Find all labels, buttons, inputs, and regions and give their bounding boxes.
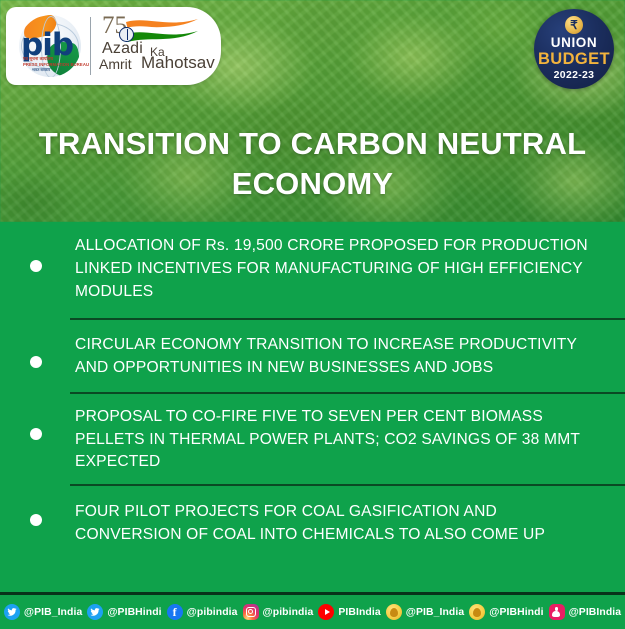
list-item: PROPOSAL TO CO-FIRE FIVE TO SEVEN PER CE…	[0, 394, 625, 475]
bullet-dot-icon	[30, 356, 42, 368]
list-item-text: ALLOCATION OF Rs. 19,500 CRORE PROPOSED …	[75, 235, 603, 304]
instagram-icon	[243, 604, 259, 620]
bullet-dot-icon	[30, 260, 42, 272]
twitter-icon	[87, 604, 103, 620]
pib-budget-poster: pib पत्र सूचना कार्यालय PRESS INFORMATIO…	[0, 0, 625, 629]
budget-badge-union: UNION	[551, 36, 598, 50]
social-handle: @PIB_India	[24, 607, 82, 618]
social-handle: @PIBHindi	[489, 607, 543, 618]
social-link-facebook[interactable]: f @pibindia	[167, 604, 238, 620]
ashoka-chakra-icon	[119, 27, 134, 42]
bullet-list-panel: ALLOCATION OF Rs. 19,500 CRORE PROPOSED …	[0, 222, 625, 594]
spacer	[0, 474, 625, 484]
list-item-text: CIRCULAR ECONOMY TRANSITION TO INCREASE …	[75, 334, 603, 380]
twitter-icon	[4, 604, 20, 620]
page-title: TRANSITION TO CARBON NEUTRAL ECONOMY	[0, 124, 625, 203]
youtube-icon	[318, 604, 334, 620]
logo-card: pib पत्र सूचना कार्यालय PRESS INFORMATIO…	[6, 7, 221, 85]
social-handle: @PIB_India	[406, 607, 464, 618]
social-handle: @pibindia	[187, 607, 238, 618]
budget-badge-budget: BUDGET	[538, 51, 610, 68]
sharechat-icon	[549, 604, 565, 620]
bullet-dot-icon	[30, 428, 42, 440]
social-handle: @PIBIndia	[569, 607, 622, 618]
logo-divider	[90, 17, 91, 75]
azadi-ka-amrit-mahotsav-logo: 75 Azadi Ka Amrit Mahotsav	[98, 11, 218, 81]
list-item: FOUR PILOT PROJECTS FOR COAL GASIFICATIO…	[0, 486, 625, 547]
spacer	[0, 380, 625, 392]
list-item-text: FOUR PILOT PROJECTS FOR COAL GASIFICATIO…	[75, 501, 603, 547]
pib-gov-line: भारत सरकार	[32, 68, 50, 73]
social-link-koo-pib-hindi[interactable]: @PIBHindi	[469, 604, 543, 620]
rupee-coin-icon: ₹	[565, 16, 583, 34]
facebook-icon: f	[167, 604, 183, 620]
social-link-youtube[interactable]: PIBIndia	[318, 604, 380, 620]
union-budget-badge: ₹ UNION BUDGET 2022-23	[534, 9, 614, 89]
social-link-twitter-pib-hindi[interactable]: @PIBHindi	[87, 604, 161, 620]
social-footer-bar: @PIB_India @PIBHindi f @pibindia @pibind…	[0, 595, 625, 629]
spacer	[0, 304, 625, 318]
koo-icon	[469, 604, 485, 620]
pib-logo: pib पत्र सूचना कार्यालय PRESS INFORMATIO…	[12, 12, 88, 80]
pib-english-line: PRESS INFORMATION BUREAU	[23, 62, 89, 67]
list-item: CIRCULAR ECONOMY TRANSITION TO INCREASE …	[0, 320, 625, 380]
budget-badge-year: 2022-23	[554, 69, 595, 82]
social-handle: @PIBHindi	[107, 607, 161, 618]
koo-icon	[386, 604, 402, 620]
list-item-text: PROPOSAL TO CO-FIRE FIVE TO SEVEN PER CE…	[75, 406, 603, 475]
bullet-dot-icon	[30, 514, 42, 526]
social-link-twitter-pib-india[interactable]: @PIB_India	[4, 604, 82, 620]
social-link-koo-pib-india[interactable]: @PIB_India	[386, 604, 464, 620]
social-handle: @pibindia	[263, 607, 314, 618]
amrit-word: Amrit	[99, 56, 132, 72]
mahotsav-word: Mahotsav	[141, 53, 215, 73]
social-link-instagram[interactable]: @pibindia	[243, 604, 314, 620]
list-item: ALLOCATION OF Rs. 19,500 CRORE PROPOSED …	[0, 222, 625, 304]
social-handle: PIBIndia	[338, 607, 380, 618]
social-link-sharechat[interactable]: @PIBIndia	[549, 604, 622, 620]
